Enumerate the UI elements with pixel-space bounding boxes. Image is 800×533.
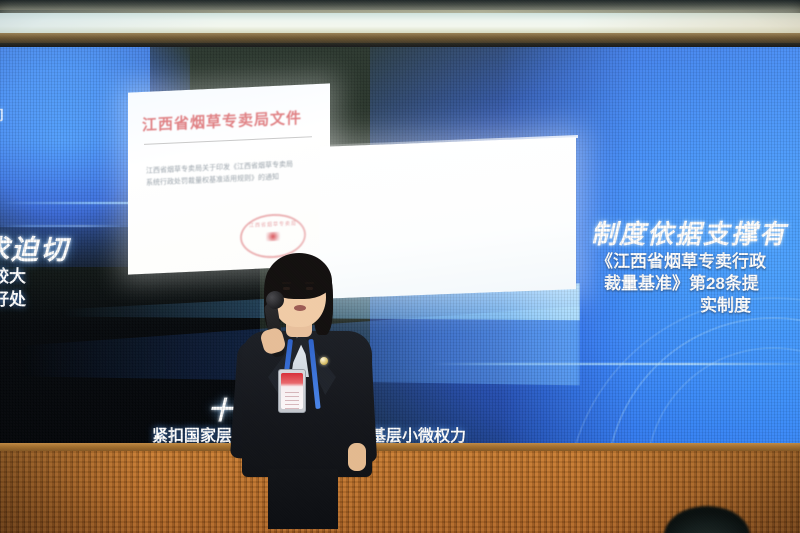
lapel-pin-icon bbox=[320, 357, 328, 365]
wall-subtext-left-2: 好处 bbox=[0, 285, 26, 310]
speaker-eye-right bbox=[306, 287, 313, 290]
wall-headline-right: 制度依据支撑有 bbox=[591, 214, 787, 251]
document-divider bbox=[144, 136, 312, 145]
speaker-hand-lowered bbox=[348, 443, 366, 471]
presentation-photo: 司 求迫切 较大 好处 制度依据支撑有 《江西省烟草专卖行政 裁量基准》第28条… bbox=[0, 0, 800, 533]
wall-subtext-center-1: 紧扣国家层 bbox=[152, 422, 232, 445]
speaker-trousers bbox=[268, 469, 338, 529]
ceiling-light-strip bbox=[0, 13, 800, 35]
speaker-figure bbox=[228, 247, 384, 477]
id-badge-card bbox=[281, 373, 303, 409]
wall-subtext-right-3: 实制度 bbox=[700, 291, 751, 316]
id-badge-text-lines bbox=[285, 391, 299, 409]
document-title: 江西省烟草专卖局文件 bbox=[142, 106, 322, 135]
wall-subtext-left-1: 较大 bbox=[0, 262, 26, 287]
horizontal-light-rule bbox=[0, 225, 120, 227]
speaker-eye-left bbox=[283, 287, 290, 290]
speaker-mouth bbox=[294, 305, 306, 311]
horizontal-light-rule bbox=[430, 363, 800, 365]
projected-document-slide: 江西省烟草专卖局文件 江西省烟草专卖局关于印发《江西省烟草专卖局 系统行政处罚裁… bbox=[128, 83, 330, 274]
id-badge bbox=[278, 369, 306, 413]
seal-label: 江西省烟草专卖局 bbox=[242, 220, 304, 230]
speaker-eyebrow-left bbox=[282, 282, 291, 284]
wall-corner-tag: 司 bbox=[0, 105, 4, 125]
speaker-eyebrow-right bbox=[305, 282, 314, 284]
